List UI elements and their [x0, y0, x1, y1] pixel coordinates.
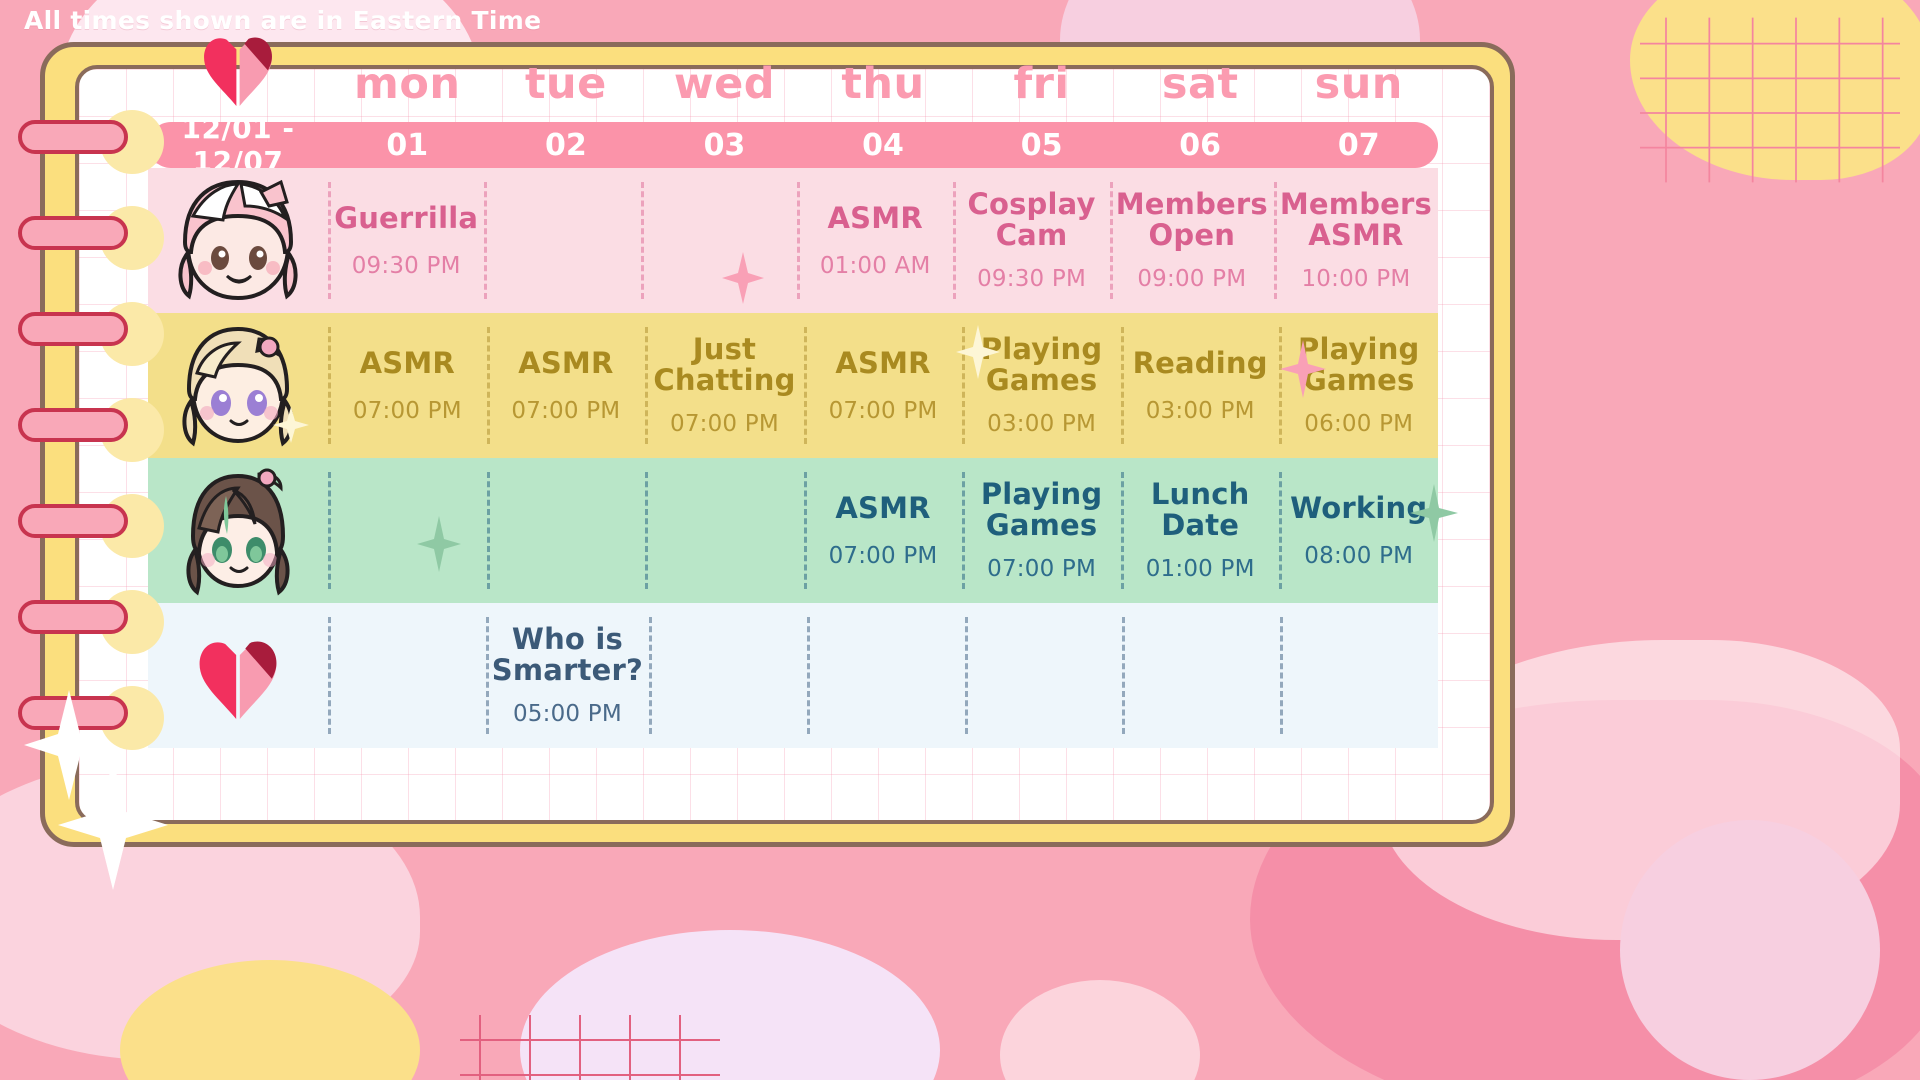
binding-dot — [100, 110, 164, 174]
schedule-cell[interactable]: ASMR 07:00 PM — [328, 313, 487, 458]
stream-title: Members ASMR — [1280, 189, 1432, 250]
timezone-note: All times shown are in Eastern Time — [24, 6, 541, 35]
sparkle-icon — [956, 325, 1000, 379]
stream-time: 07:00 PM — [353, 398, 462, 424]
heart-logo-icon — [197, 30, 279, 106]
stream-title: Lunch Date — [1127, 479, 1274, 540]
day-header-row: mon tue wed thu fri sat sun — [148, 24, 1438, 110]
schedule-cell[interactable] — [487, 458, 646, 603]
avatar-cell — [148, 458, 328, 603]
stream-title: ASMR — [518, 348, 613, 382]
stream-time: 09:00 PM — [1137, 266, 1246, 292]
stream-title: ASMR — [835, 493, 930, 527]
stream-time: 09:30 PM — [977, 266, 1086, 292]
sparkle-icon — [1280, 340, 1326, 398]
stream-time: 05:00 PM — [513, 701, 622, 727]
date-label-03: 03 — [645, 128, 804, 163]
day-label-mon: mon — [328, 63, 487, 110]
schedule-cell[interactable] — [328, 458, 487, 603]
binding-ring — [18, 312, 128, 346]
date-label-02: 02 — [487, 128, 646, 163]
binding-dot — [100, 590, 164, 654]
stream-title: Guerrilla — [334, 203, 478, 237]
stream-time: 03:00 PM — [1146, 398, 1255, 424]
stream-time: 07:00 PM — [987, 556, 1096, 582]
stream-title: Just Chatting — [651, 334, 798, 395]
stream-title: ASMR — [835, 348, 930, 382]
schedule-row-3: ASMR 07:00 PM Playing Games 07:00 PM Lun… — [148, 458, 1438, 603]
day-label-sun: sun — [1279, 63, 1438, 110]
binding-dot — [100, 494, 164, 558]
stream-title: Working — [1290, 493, 1427, 527]
date-bar: 12/01 - 12/07 01 02 03 04 05 06 07 — [148, 122, 1438, 168]
bg-grid-pattern-top-right — [1640, 10, 1900, 190]
schedule-cell[interactable] — [1280, 603, 1438, 748]
stream-time: 01:00 AM — [820, 253, 931, 279]
date-label-06: 06 — [1121, 128, 1280, 163]
stream-time: 01:00 PM — [1146, 556, 1255, 582]
schedule-cell[interactable]: ASMR 07:00 PM — [804, 313, 963, 458]
schedule-cell[interactable] — [645, 458, 804, 603]
sparkle-icon — [417, 516, 461, 572]
sparkle-icon — [58, 760, 168, 890]
schedule-cell[interactable]: Who is Smarter? 05:00 PM — [486, 603, 649, 748]
day-label-fri: fri — [962, 63, 1121, 110]
schedule-cell[interactable]: Lunch Date 01:00 PM — [1121, 458, 1280, 603]
schedule-cell[interactable] — [965, 603, 1123, 748]
stream-time: 03:00 PM — [987, 411, 1096, 437]
day-label-tue: tue — [487, 63, 646, 110]
schedule-cell[interactable]: Playing Games 07:00 PM — [962, 458, 1121, 603]
day-label-thu: thu — [804, 63, 963, 110]
stream-title: Members Open — [1116, 189, 1268, 250]
binding-dot — [100, 302, 164, 366]
schedule-cell[interactable]: Just Chatting 07:00 PM — [645, 313, 804, 458]
binding-dot — [100, 206, 164, 270]
schedule-cell[interactable]: ASMR 07:00 PM — [487, 313, 646, 458]
stream-time: 09:30 PM — [352, 253, 461, 279]
schedule-row-1: Guerrilla 09:30 PM ASMR 01:00 AM Cosplay… — [148, 168, 1438, 313]
binding-ring — [18, 120, 128, 154]
avatar-brown-hair-icon — [163, 466, 313, 596]
avatar-blonde-braids-icon — [163, 321, 313, 451]
avatar-cell — [148, 313, 328, 458]
stream-time: 06:00 PM — [1304, 411, 1413, 437]
date-label-07: 07 — [1279, 128, 1438, 163]
schedule-cell[interactable] — [641, 168, 797, 313]
heart-logo-icon — [192, 633, 284, 719]
stream-title: Cosplay Cam — [959, 189, 1103, 250]
schedule-cell[interactable]: Cosplay Cam 09:30 PM — [953, 168, 1109, 313]
bg-blob-7 — [1620, 820, 1880, 1080]
brand-logo-cell — [148, 30, 328, 110]
stream-time: 07:00 PM — [829, 543, 938, 569]
schedule-cell[interactable]: Working 08:00 PM — [1279, 458, 1438, 603]
schedule-cell[interactable]: Members Open 09:00 PM — [1110, 168, 1274, 313]
schedule-row-2: ASMR 07:00 PM ASMR 07:00 PM Just Chattin… — [148, 313, 1438, 458]
stream-time: 07:00 PM — [670, 411, 779, 437]
avatar-pink-hair-icon — [163, 176, 313, 306]
schedule-cell[interactable] — [649, 603, 807, 748]
bg-blob-8 — [1000, 980, 1200, 1080]
date-label-05: 05 — [962, 128, 1121, 163]
binding-ring — [18, 600, 128, 634]
schedule-cell[interactable]: Members ASMR 10:00 PM — [1274, 168, 1438, 313]
stream-title: ASMR — [360, 348, 455, 382]
schedule-cell[interactable] — [484, 168, 640, 313]
date-label-01: 01 — [328, 128, 487, 163]
binding-dot — [100, 398, 164, 462]
avatar-cell — [148, 168, 328, 313]
stream-time: 07:00 PM — [829, 398, 938, 424]
schedule-cell[interactable] — [328, 603, 486, 748]
stream-time: 07:00 PM — [511, 398, 620, 424]
stream-title: ASMR — [828, 203, 923, 237]
schedule-cell[interactable]: ASMR 01:00 AM — [797, 168, 953, 313]
binding-ring — [18, 504, 128, 538]
day-label-wed: wed — [645, 63, 804, 110]
bg-grid-pattern-bottom — [460, 980, 720, 1080]
schedule-cell[interactable]: ASMR 07:00 PM — [804, 458, 963, 603]
schedule-cell[interactable] — [1122, 603, 1280, 748]
sparkle-icon — [1410, 484, 1458, 542]
avatar-cell — [148, 603, 328, 748]
schedule-cell[interactable] — [807, 603, 965, 748]
date-label-04: 04 — [804, 128, 963, 163]
schedule-table: mon tue wed thu fri sat sun 12/01 - 12/0… — [148, 24, 1438, 748]
schedule-cell[interactable]: Reading 03:00 PM — [1121, 313, 1280, 458]
schedule-cell[interactable]: Playing Games 03:00 PM — [962, 313, 1121, 458]
stream-title: Reading — [1133, 348, 1268, 382]
day-label-sat: sat — [1121, 63, 1280, 110]
schedule-cell[interactable]: Guerrilla 09:30 PM — [328, 168, 484, 313]
stream-time: 10:00 PM — [1301, 266, 1410, 292]
sparkle-icon — [722, 252, 764, 304]
binding-ring — [18, 408, 128, 442]
schedule-row-4: Who is Smarter? 05:00 PM — [148, 603, 1438, 748]
stream-time: 08:00 PM — [1304, 543, 1413, 569]
stream-title: Playing Games — [968, 479, 1115, 540]
stream-title: Who is Smarter? — [492, 624, 643, 685]
binding-ring — [18, 216, 128, 250]
